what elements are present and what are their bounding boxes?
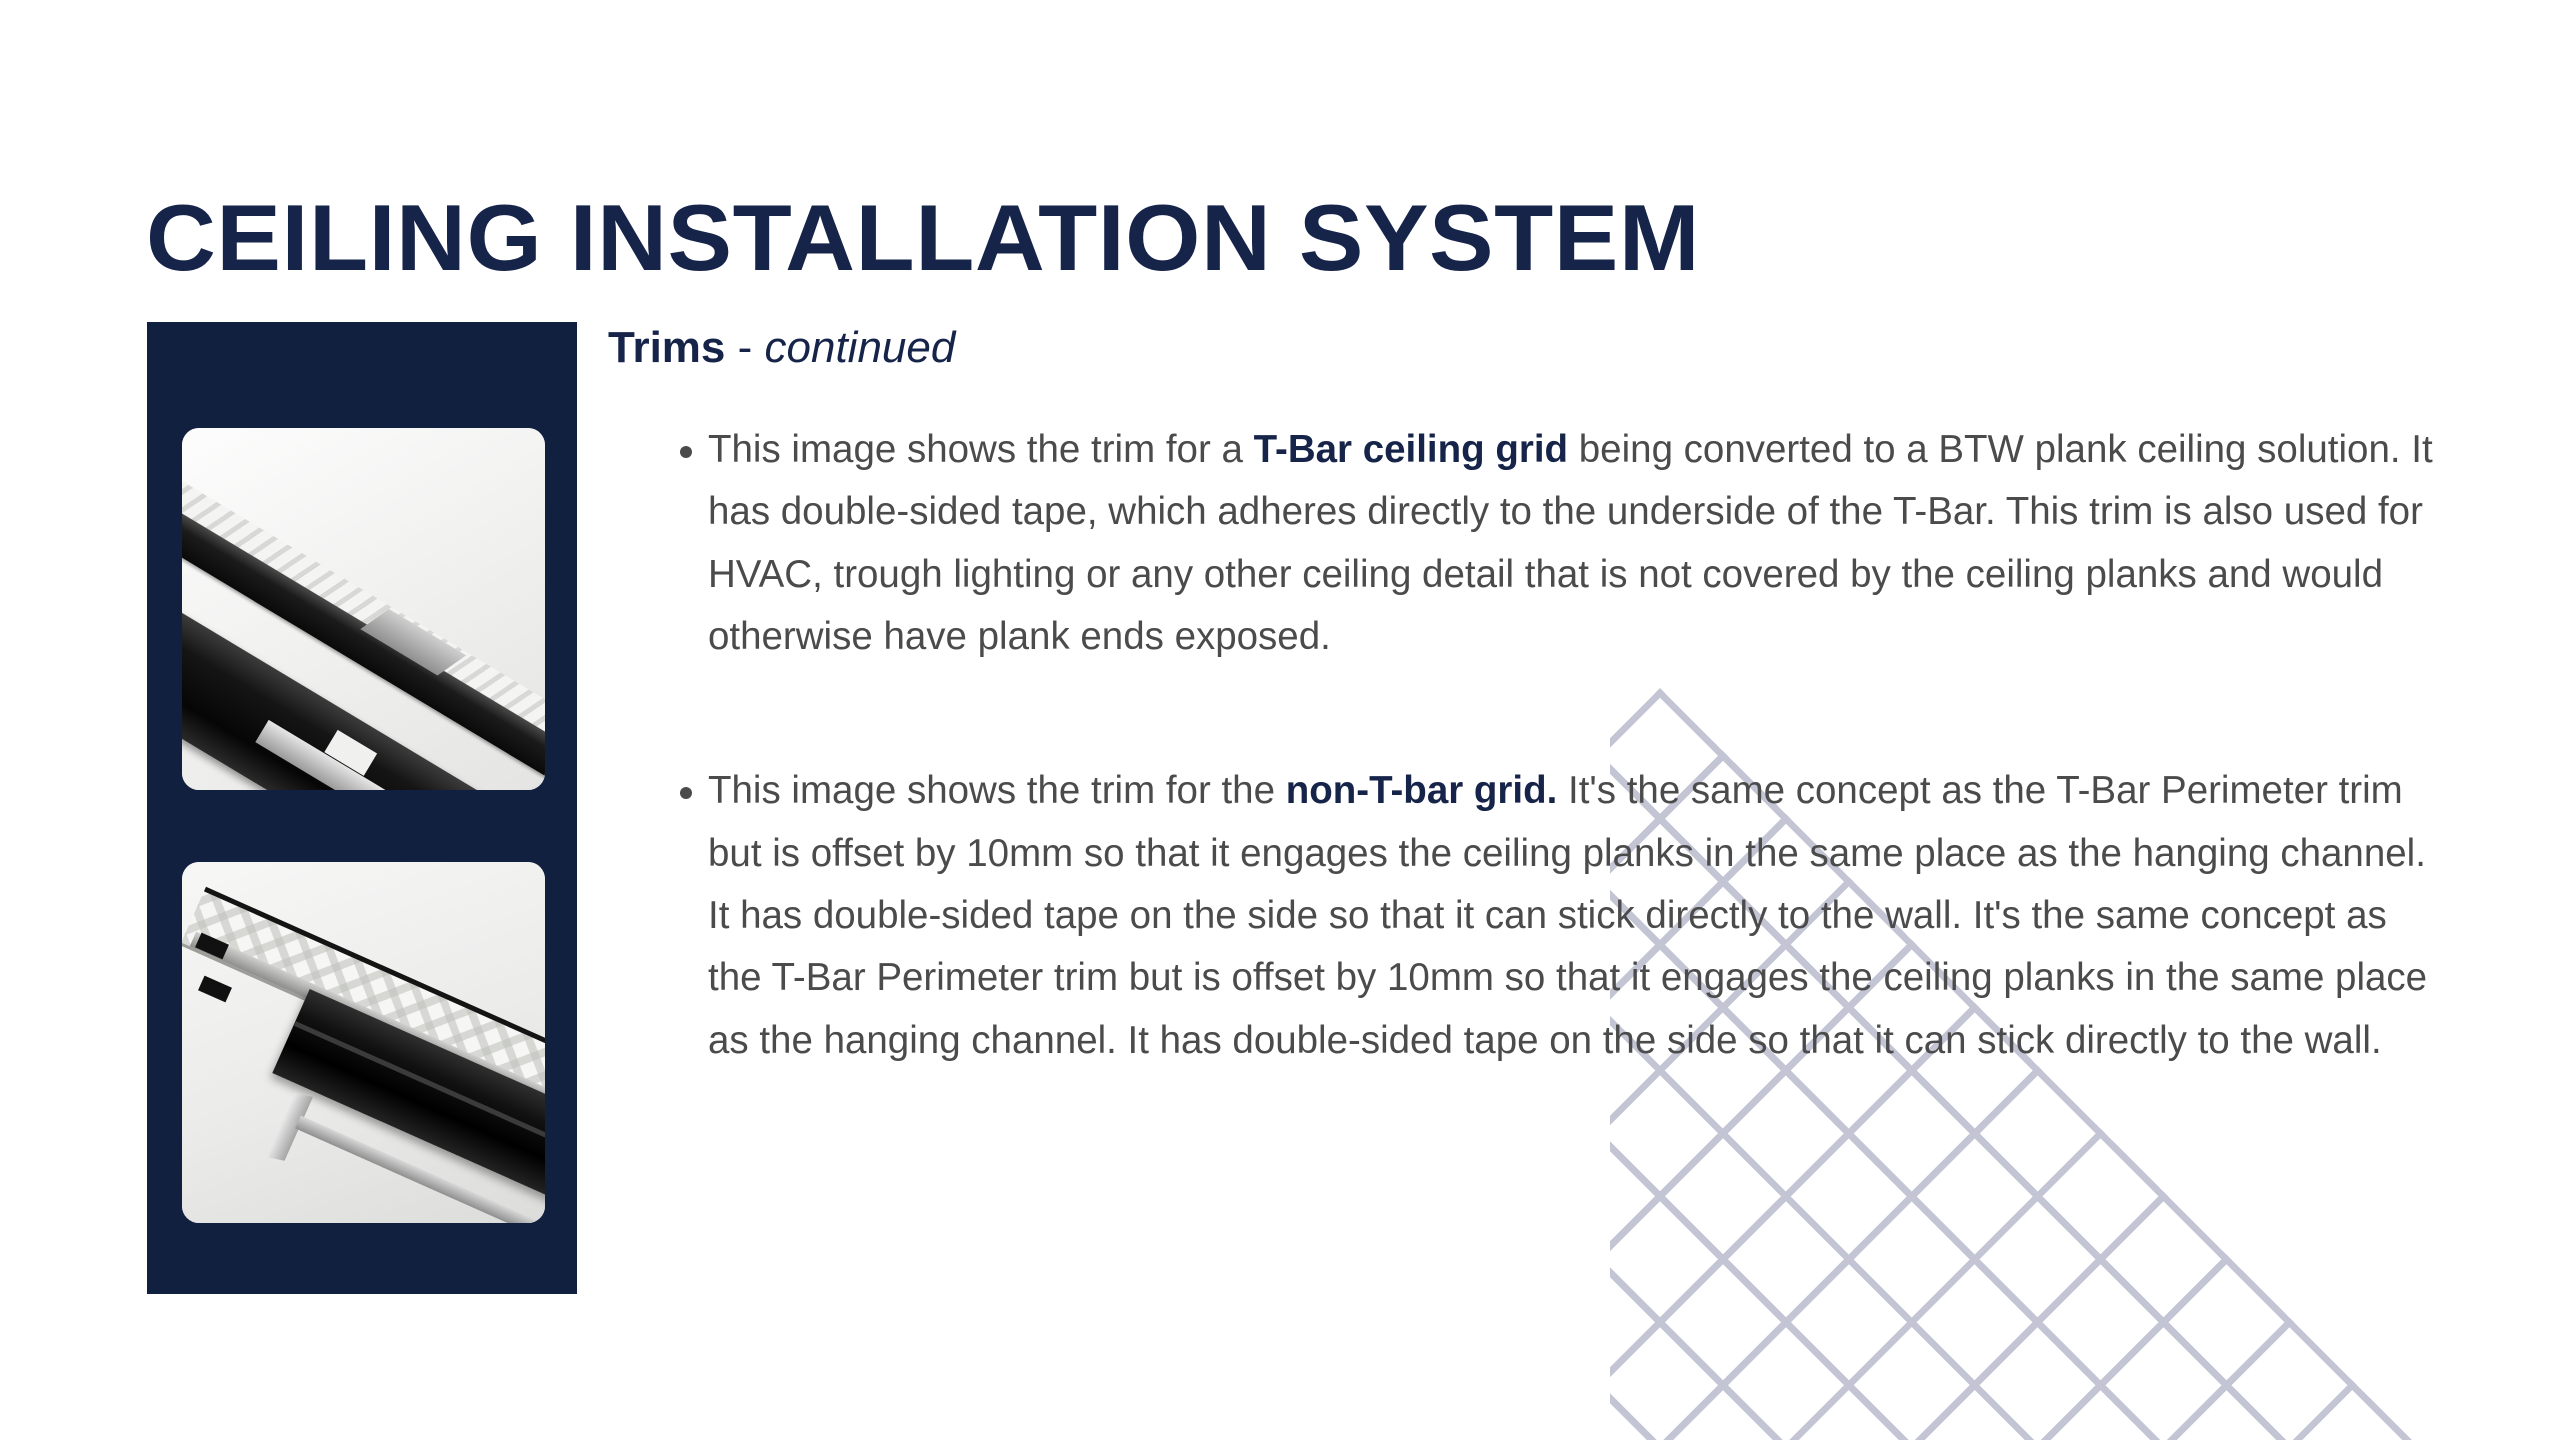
subheading-italic-text: continued <box>765 323 956 372</box>
bullet-text-part-1: This image shows the trim for the <box>708 769 1286 812</box>
photo-t-bar-perimeter-trim <box>182 428 545 790</box>
photo-non-t-bar-trim <box>182 862 545 1223</box>
subheading-bold-text: Trims <box>608 323 725 372</box>
list-item: This image shows the trim for the non-T-… <box>608 760 2448 1072</box>
page-title: CEILING INSTALLATION SYSTEM <box>146 191 1700 285</box>
bullet-emphasis: T-Bar ceiling grid <box>1254 428 1568 471</box>
bullet-list: This image shows the trim for a T-Bar ce… <box>608 419 2448 1072</box>
photo-1-content <box>182 428 545 790</box>
photo-2-content <box>182 862 545 1223</box>
slide-canvas: CEILING INSTALLATION SYSTEM <box>0 0 2560 1440</box>
bullet-emphasis: non-T-bar grid. <box>1286 769 1558 812</box>
section-subheading: Trims - continued <box>608 322 2448 375</box>
bullet-text-part-1: This image shows the trim for a <box>708 428 1254 471</box>
bullet-text-part-2: It's the same concept as the T-Bar Perim… <box>708 769 2427 1061</box>
content-column: Trims - continued This image shows the t… <box>608 322 2448 1072</box>
image-panel <box>147 322 577 1294</box>
list-item: This image shows the trim for a T-Bar ce… <box>608 419 2448 668</box>
subheading-separator: - <box>725 323 764 372</box>
